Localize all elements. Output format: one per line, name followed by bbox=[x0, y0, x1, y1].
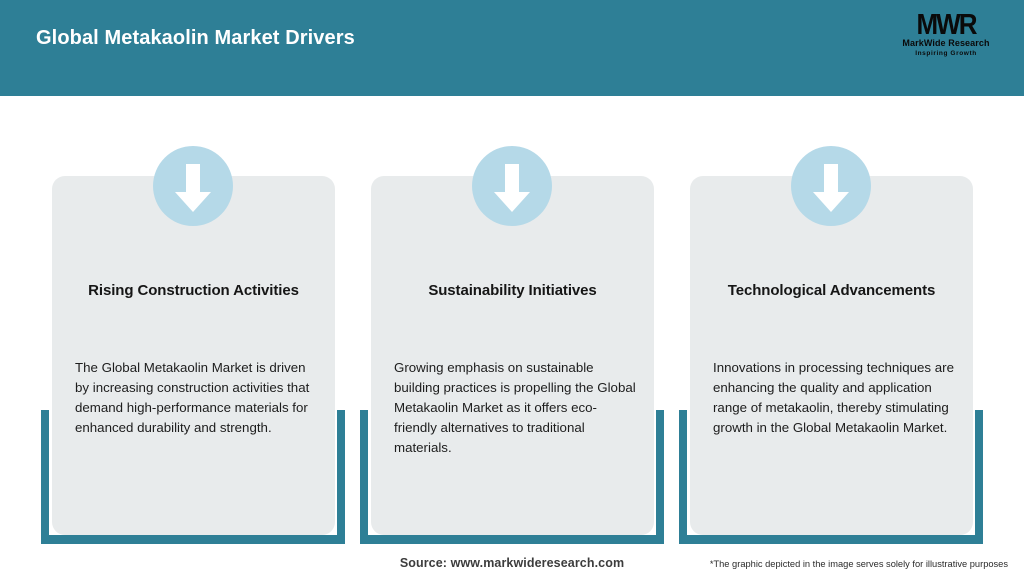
card-body-text: Growing emphasis on sustainable building… bbox=[394, 358, 637, 458]
driver-card: Sustainability Initiatives Growing empha… bbox=[360, 146, 664, 544]
card-title: Rising Construction Activities bbox=[66, 281, 321, 300]
card-title: Technological Advancements bbox=[704, 281, 959, 300]
card-frame-bottom bbox=[360, 535, 664, 544]
card-frame-left bbox=[360, 410, 368, 544]
header-bar: Global Metakaolin Market Drivers MWR Mar… bbox=[0, 0, 1024, 96]
down-arrow-icon bbox=[153, 146, 233, 226]
card-frame-right bbox=[337, 410, 345, 544]
driver-card: Technological Advancements Innovations i… bbox=[679, 146, 983, 544]
card-body-text: The Global Metakaolin Market is driven b… bbox=[75, 358, 318, 438]
card-frame-bottom bbox=[679, 535, 983, 544]
disclaimer-note: *The graphic depicted in the image serve… bbox=[710, 559, 1008, 569]
down-arrow-icon bbox=[791, 146, 871, 226]
card-title: Sustainability Initiatives bbox=[385, 281, 640, 300]
page-title: Global Metakaolin Market Drivers bbox=[36, 27, 355, 50]
card-panel: Sustainability Initiatives Growing empha… bbox=[371, 176, 654, 535]
markwide-research-logo: MWR MarkWide Research Inspiring Growth bbox=[892, 10, 1000, 66]
card-frame-right bbox=[975, 410, 983, 544]
card-frame-left bbox=[41, 410, 49, 544]
card-panel: Rising Construction Activities The Globa… bbox=[52, 176, 335, 535]
logo-tagline: Inspiring Growth bbox=[892, 49, 1000, 58]
card-frame-right bbox=[656, 410, 664, 544]
card-panel: Technological Advancements Innovations i… bbox=[690, 176, 973, 535]
logo-monogram: MWR bbox=[892, 8, 1000, 39]
driver-card: Rising Construction Activities The Globa… bbox=[41, 146, 345, 544]
card-frame-left bbox=[679, 410, 687, 544]
card-frame-bottom bbox=[41, 535, 345, 544]
card-body-text: Innovations in processing techniques are… bbox=[713, 358, 956, 438]
down-arrow-icon bbox=[472, 146, 552, 226]
